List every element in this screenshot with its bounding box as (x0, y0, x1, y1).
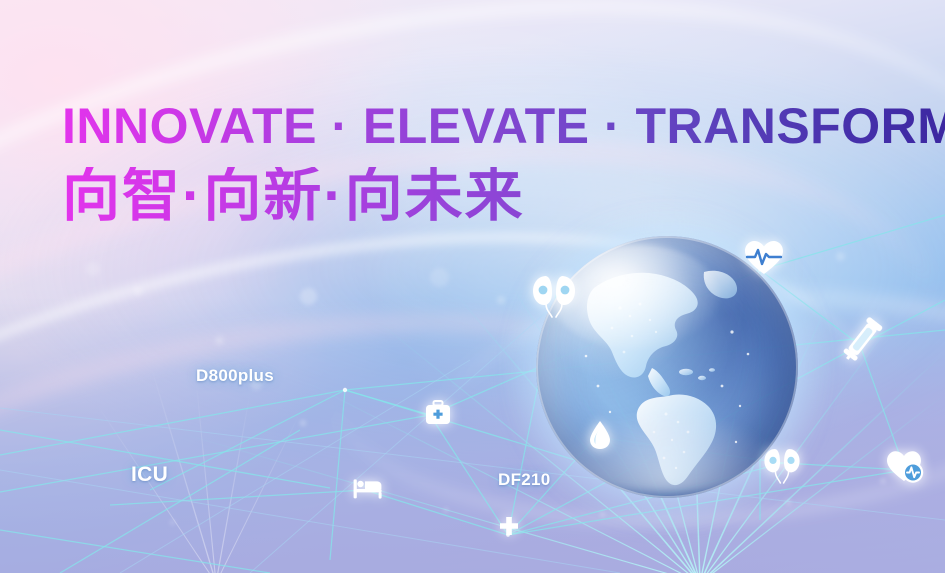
kidneys-icon (530, 272, 578, 318)
heart-pulse-icon (744, 240, 784, 276)
medical-cross-icon (498, 516, 520, 538)
blood-drop-icon (588, 420, 612, 450)
headline-block: INNOVATE · ELEVATE · TRANSFORM 向智·向新·向未来 (62, 101, 945, 225)
medical-kit-icon (425, 400, 451, 425)
promotional-banner: D800plus ICU DF210 INNOVATE · ELEVATE · … (0, 0, 945, 573)
headline-english: INNOVATE · ELEVATE · TRANSFORM (62, 101, 945, 151)
kidneys-icon (762, 446, 802, 484)
node-label-icu: ICU (131, 463, 168, 487)
heart-monitor-icon (886, 450, 924, 484)
headline-chinese: 向智·向新·向未来 (62, 167, 945, 225)
node-label-df210: DF210 (498, 470, 551, 490)
hospital-bed-icon (352, 478, 384, 500)
node-label-d800plus: D800plus (196, 366, 274, 386)
